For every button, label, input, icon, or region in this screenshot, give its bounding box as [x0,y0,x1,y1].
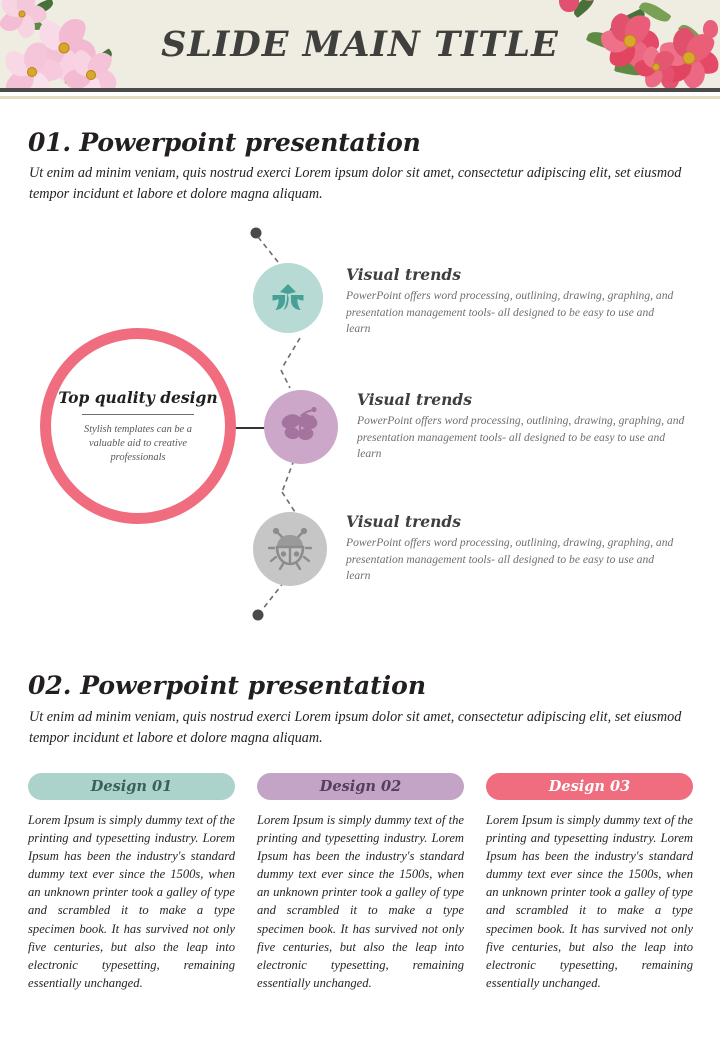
node-3-circle [253,512,327,586]
node-3-body: PowerPoint offers word processing, outli… [346,535,678,585]
slide-header: SLIDE MAIN TITLE [0,0,720,88]
hub-divider [82,414,194,415]
hub-circle: Top quality design Stylish templates can… [40,328,236,524]
butterfly-icon [280,407,322,447]
section-2-body: Ut enim ad minim veniam, quis nostrud ex… [29,707,694,749]
node-2-body: PowerPoint offers word processing, outli… [357,413,689,463]
plant-leaves-icon [269,279,307,317]
node-3-text: Visual trends PowerPoint offers word pro… [346,512,678,585]
section-1-body: Ut enim ad minim veniam, quis nostrud ex… [29,163,694,205]
design-card-3-header: Design 03 [486,773,693,800]
hub-heading: Top quality design [58,388,217,407]
hub-caption: Stylish templates can be a valuable aid … [72,423,204,465]
node-2-heading: Visual trends [357,390,689,409]
node-1-heading: Visual trends [346,265,678,284]
section-1-title: 01. Powerpoint presentation [28,128,421,157]
slide-title: SLIDE MAIN TITLE [0,0,720,88]
node-2-text: Visual trends PowerPoint offers word pro… [357,390,689,463]
node-3-heading: Visual trends [346,512,678,531]
process-diagram: Top quality design Stylish templates can… [0,210,720,640]
design-card-2[interactable]: Design 02 Lorem Ipsum is simply dummy te… [257,773,464,992]
design-card-1[interactable]: Design 01 Lorem Ipsum is simply dummy te… [28,773,235,992]
node-2-circle [264,390,338,464]
node-1-circle [253,263,323,333]
design-card-1-body: Lorem Ipsum is simply dummy text of the … [28,811,235,992]
design-card-2-header: Design 02 [257,773,464,800]
design-cards: Design 01 Lorem Ipsum is simply dummy te… [28,773,693,992]
design-card-1-header: Design 01 [28,773,235,800]
section-2-title: 02. Powerpoint presentation [28,671,426,700]
header-accent-rule [0,96,720,99]
node-1-body: PowerPoint offers word processing, outli… [346,288,678,338]
node-1-text: Visual trends PowerPoint offers word pro… [346,265,678,338]
design-card-3[interactable]: Design 03 Lorem Ipsum is simply dummy te… [486,773,693,992]
design-card-3-body: Lorem Ipsum is simply dummy text of the … [486,811,693,992]
ladybug-icon [268,528,312,570]
design-card-2-body: Lorem Ipsum is simply dummy text of the … [257,811,464,992]
